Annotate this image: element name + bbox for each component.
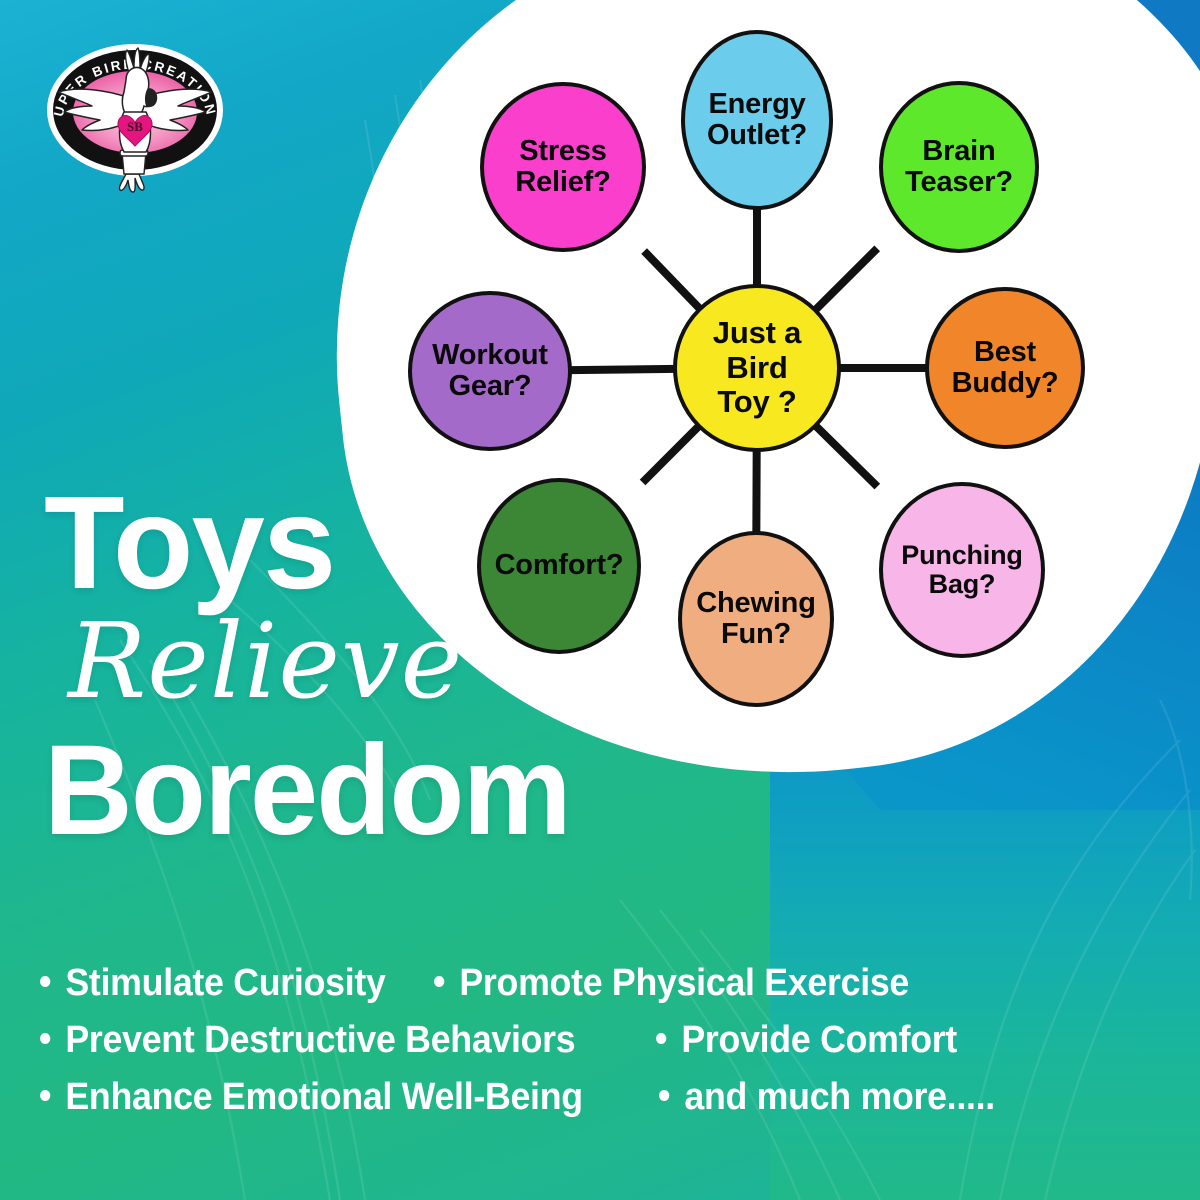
mind-map-node-punching-bag[interactable]: PunchingBag? [879,482,1045,658]
headline-line-boredom: Boredom [44,731,716,851]
benefit-label: Prevent Destructive Behaviors [65,1019,575,1062]
bullet-dot-icon [659,1090,669,1101]
benefit-row: Enhance Emotional Well-Beingand much mor… [40,1076,1170,1119]
mind-map-node-label: PunchingBag? [901,541,1022,599]
mind-map-node-stress-relief[interactable]: StressRelief? [480,82,646,252]
benefit-item: Stimulate Curiosity [40,962,386,1005]
mind-map-node-label: BrainTeaser? [905,136,1013,199]
mind-map-node-label: BestBuddy? [952,337,1059,400]
benefit-label: Provide Comfort [681,1019,957,1062]
headline-line-relieve: Relieve [68,609,744,713]
poster-canvas: SUPER BIRD CREATIONS SB StressRelief?En [0,0,1200,1200]
benefit-label: Enhance Emotional Well-Being [65,1076,582,1119]
benefits-bullet-list: Stimulate CuriosityPromote Physical Exer… [40,962,1170,1133]
mind-map-node-energy-outlet[interactable]: EnergyOutlet? [681,30,833,210]
benefit-row: Stimulate CuriosityPromote Physical Exer… [40,962,1170,1005]
benefit-item: Enhance Emotional Well-Being [40,1076,583,1119]
benefit-item: Prevent Destructive Behaviors [40,1019,575,1062]
benefit-item: Promote Physical Exercise [434,962,909,1005]
mind-map-node-label: StressRelief? [515,136,610,199]
mind-map-node-label: WorkoutGear? [432,340,548,403]
benefit-label: Stimulate Curiosity [65,962,385,1005]
bullet-dot-icon [40,1090,50,1101]
benefit-label: and much more..... [685,1076,996,1119]
headline-block: Toys Relieve Boredom [44,482,744,852]
bullet-dot-icon [40,1033,50,1044]
mind-map-node-workout-gear[interactable]: WorkoutGear? [408,291,572,451]
bullet-dot-icon [434,976,444,987]
headline-line-toys: Toys [44,482,744,603]
benefit-label: Promote Physical Exercise [459,962,909,1005]
benefit-row: Prevent Destructive BehaviorsProvide Com… [40,1019,1170,1062]
bullet-dot-icon [40,976,50,987]
mind-map-node-brain-teaser[interactable]: BrainTeaser? [879,81,1039,253]
bullet-dot-icon [656,1033,666,1044]
mind-map-node-label: EnergyOutlet? [707,89,807,152]
mind-map-center-label: Just aBirdToy ? [713,316,801,420]
benefit-item: and much more..... [659,1076,995,1119]
benefit-item: Provide Comfort [656,1019,957,1062]
mind-map-node-best-buddy[interactable]: BestBuddy? [925,287,1085,449]
mind-map-center-node[interactable]: Just aBirdToy ? [673,284,841,452]
